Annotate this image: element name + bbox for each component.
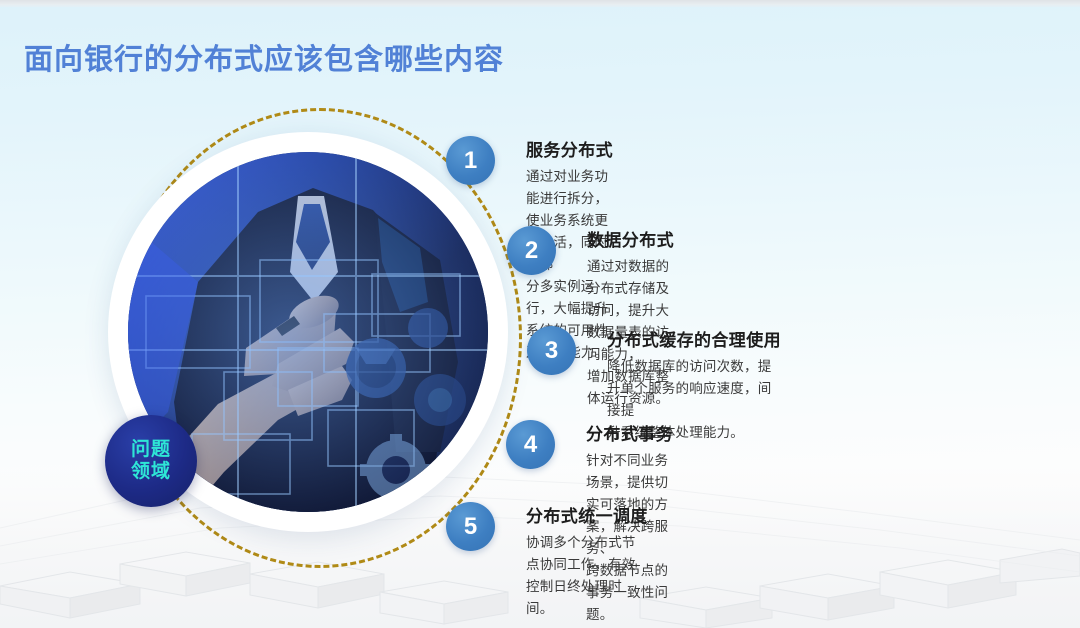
step-number-3: 3 (527, 326, 576, 375)
step-body-5: 协调多个分布式节点协同工作，有效控制日终处理时间。 (526, 532, 648, 620)
top-strip (0, 0, 1080, 7)
badge-line-2: 领域 (131, 461, 171, 483)
page-title: 面向银行的分布式应该包含哪些内容 (24, 36, 504, 78)
presentation-slide: 问题 领域 面向银行的分布式应该包含哪些内容 1 服务分布式 通过对业务功能进行… (0, 0, 1080, 628)
step-number-5: 5 (446, 502, 495, 551)
step-heading-1: 服务分布式 (526, 136, 613, 161)
step-heading-5: 分布式统一调度 (526, 502, 648, 527)
step-text-5: 分布式统一调度 协调多个分布式节点协同工作，有效控制日终处理时间。 (526, 502, 648, 620)
problem-domain-badge: 问题 领域 (105, 415, 197, 507)
step-heading-3: 分布式缓存的合理使用 (607, 326, 781, 351)
step-heading-2: 数据分布式 (587, 226, 674, 251)
step-number-1: 1 (446, 136, 495, 185)
step-heading-4: 分布式事务 (586, 420, 673, 445)
badge-line-1: 问题 (131, 439, 171, 461)
step-number-4: 4 (506, 420, 555, 469)
step-number-2: 2 (507, 226, 556, 275)
